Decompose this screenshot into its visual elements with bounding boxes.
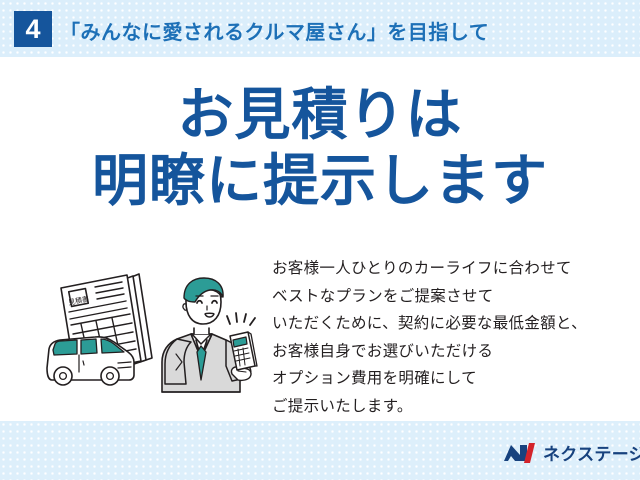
body-line: お客様自身でお選びいただける — [272, 338, 587, 366]
salesman-estimate-van-illustration: 見積書 — [34, 262, 274, 422]
sparkle-icon — [227, 313, 255, 325]
body-line: ご提示いたします。 — [272, 393, 587, 421]
brand-logo: ネクステージ — [503, 440, 640, 465]
step-number-badge: 4 — [14, 11, 52, 47]
body-line: ベストなプランをご提案させて — [272, 283, 587, 311]
body-copy: お客様一人ひとりのカーライフに合わせて ベストなプランをご提案させて いただくた… — [272, 255, 587, 420]
page-headline: お見積りは 明瞭に提示します — [0, 82, 640, 214]
header-title: 「みんなに愛されるクルマ屋さん」を目指して — [60, 16, 489, 45]
body-line: お客様一人ひとりのカーライフに合わせて — [272, 255, 587, 283]
promo-slide: 4 「みんなに愛されるクルマ屋さん」を目指して お見積りは 明瞭に提示します お… — [0, 0, 640, 480]
nextage-n-logo-icon — [503, 441, 537, 465]
body-line: いただくために、契約に必要な最低金額と、 — [272, 310, 587, 338]
headline-line-2: 明瞭に提示します — [0, 148, 640, 214]
headline-line-1: お見積りは — [0, 82, 640, 148]
body-line: オプション費用を明確にして — [272, 365, 587, 393]
brand-logo-text: ネクステージ — [543, 440, 640, 465]
